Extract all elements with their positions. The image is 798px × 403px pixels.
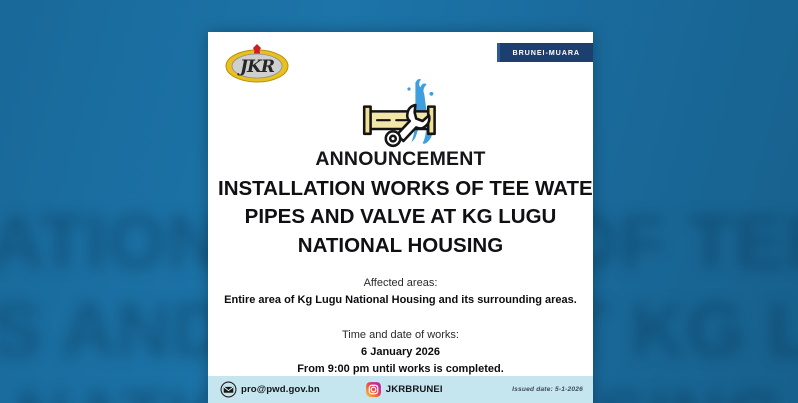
affected-areas-section: Affected areas: Entire area of Kg Lugu N… [208,276,593,308]
backdrop-jkr-logo-icon [0,0,8,40]
poster-footer: pro@pwd.gov.bn [208,376,593,403]
works-time: From 9:00 pm until works is completed. [208,361,593,378]
issued-date: Issued date: 5-1-2026 [512,386,583,393]
svg-text:JKR: JKR [237,57,275,77]
jkr-logo-icon: JKR [222,42,292,84]
email-contact[interactable]: pro@pwd.gov.bn [220,381,320,398]
poster-header: JKR BRUNEI-MUARA [208,32,593,88]
instagram-contact[interactable]: JKRBRUNEI [365,381,443,398]
page-title: INSTALLATION WORKS OF TEE WATER PIPES AN… [208,175,593,260]
region-badge: BRUNEI-MUARA [497,43,594,62]
works-date: 6 January 2026 [208,344,593,361]
instagram-icon [365,381,382,398]
affected-areas-label: Affected areas: [208,276,593,292]
email-icon [220,381,237,398]
affected-areas-value: Entire area of Kg Lugu National Housing … [208,292,593,309]
announcement-poster: JKR BRUNEI-MUARA [208,32,593,403]
time-date-section: Time and date of works: 6 January 2026 F… [208,328,593,377]
instagram-label: JKRBRUNEI [386,384,443,395]
title-line-1: INSTALLATION WORKS OF TEE WATER [218,175,583,203]
announcement-heading: ANNOUNCEMENT [208,148,593,171]
screenshot-root: INSTALLATION WORKS OF TEE WATER PIPES AN… [0,0,798,403]
title-line-3: NATIONAL HOUSING [218,232,583,260]
email-label: pro@pwd.gov.bn [241,384,320,395]
title-line-2: PIPES AND VALVE AT KG LUGU [218,203,583,231]
time-date-label: Time and date of works: [208,328,593,344]
